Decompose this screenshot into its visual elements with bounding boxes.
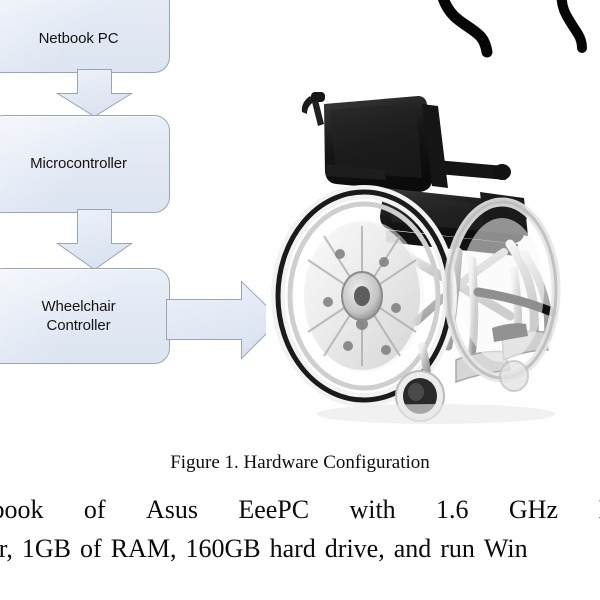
body-text-line-2: essor,1GBofRAM,160GBharddrive,andrunWin [0, 529, 600, 568]
body-text-word: Netbook [0, 490, 44, 529]
body-text-word: of [80, 529, 102, 568]
body-text-word: of [84, 490, 106, 529]
flow-box-microcontroller-label: Microcontroller [30, 154, 127, 173]
arrow-microcontroller-to-wheelchair-controller [48, 209, 141, 271]
body-text-word: Asus [146, 490, 198, 529]
body-text-word: essor, [0, 529, 13, 568]
body-text-word: GHz [509, 490, 558, 529]
body-text-line-1: NetbookofAsusEeePCwith1.6GHzIntel [0, 490, 600, 529]
wheelchair-photo [266, 84, 578, 426]
figure-1: Netbook PC Microcontroller WheelchairCon… [0, 0, 600, 440]
figure-caption: Figure 1. Hardware Configuration [0, 452, 600, 474]
body-text-word: drive, [325, 529, 385, 568]
flow-box-wheelchair-controller-label-line2: Controller [46, 317, 110, 334]
body-text-word: EeePC [238, 490, 309, 529]
body-text-word: Win [484, 529, 528, 568]
document-page: Netbook PC Microcontroller WheelchairCon… [0, 0, 600, 600]
body-paragraph: NetbookofAsusEeePCwith1.6GHzIntel essor,… [0, 490, 600, 568]
flow-box-netbook-pc-label: Netbook PC [39, 29, 119, 48]
arrow-wheelchair-controller-to-wheelchair [166, 278, 282, 362]
body-text-word: and [394, 529, 432, 568]
body-text-word: run [440, 529, 475, 568]
body-text-word: 160GB [185, 529, 260, 568]
arrow-netbook-to-microcontroller [48, 69, 141, 118]
flow-box-wheelchair-controller-label: WheelchairController [41, 297, 115, 335]
body-text-word: with [349, 490, 395, 529]
flow-box-netbook-pc[interactable]: Netbook PC [0, 0, 170, 73]
body-text-word: 1.6 [436, 490, 469, 529]
flow-box-microcontroller[interactable]: Microcontroller [0, 115, 170, 213]
ink-stroke-left-icon [418, 0, 508, 64]
flow-box-wheelchair-controller-label-line1: Wheelchair [41, 298, 115, 315]
hardware-flow-diagram: Netbook PC Microcontroller WheelchairCon… [0, 0, 285, 380]
flow-box-wheelchair-controller[interactable]: WheelchairController [0, 268, 170, 364]
body-text-word: 1GB [22, 529, 71, 568]
body-text-word: hard [270, 529, 316, 568]
body-text-word: RAM, [111, 529, 177, 568]
ink-stroke-right-icon [549, 0, 595, 59]
